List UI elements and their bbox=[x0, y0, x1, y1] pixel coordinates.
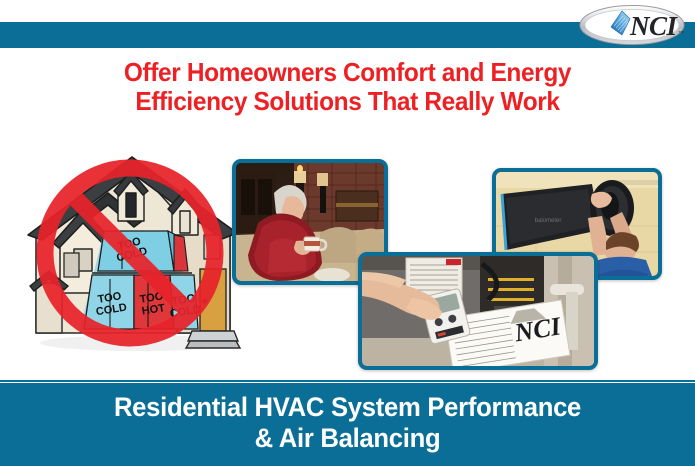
headline-line-1: Offer Homeowners Comfort and Energy bbox=[124, 57, 571, 87]
house-comfort-problem-illustration: TOO COLD TOO COLD TOO HOT TOO COLD bbox=[22, 143, 257, 358]
headline-line-2: Efficiency Solutions That Really Work bbox=[21, 87, 674, 116]
photo-technician-measuring-furnace: NCI bbox=[358, 252, 598, 370]
footer-divider bbox=[0, 380, 695, 382]
poster-canvas: NCI ™ Offer Homeowners Comfort and Energ… bbox=[0, 0, 695, 466]
svg-text:balometer: balometer bbox=[535, 218, 562, 224]
artwork-collage: TOO COLD TOO COLD TOO HOT TOO COLD bbox=[0, 135, 695, 375]
footer-line-2: & Air Balancing bbox=[17, 423, 677, 454]
footer-title: Residential HVAC System Performance & Ai… bbox=[17, 392, 677, 454]
footer-line-1: Residential HVAC System Performance bbox=[114, 392, 581, 422]
nci-logo: NCI ™ bbox=[578, 4, 686, 46]
svg-text:™: ™ bbox=[678, 30, 684, 37]
nci-logo-text: NCI bbox=[629, 11, 679, 41]
page-title: Offer Homeowners Comfort and Energy Effi… bbox=[21, 58, 674, 116]
